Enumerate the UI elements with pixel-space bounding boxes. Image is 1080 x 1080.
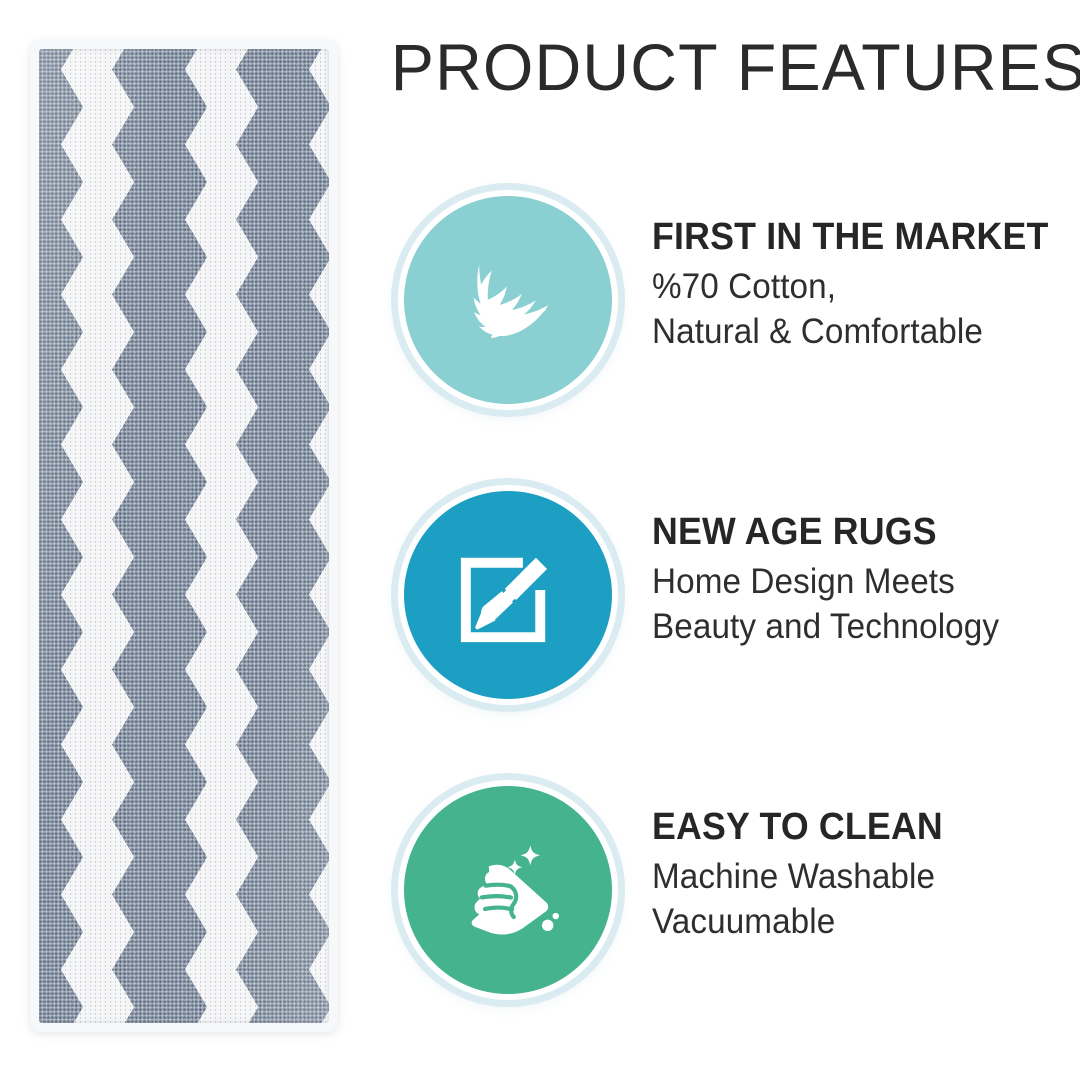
feature-line-1: Machine Washable [652, 854, 1059, 900]
chevron-runner-rug [30, 40, 338, 1032]
feature-icon-badge [404, 491, 612, 699]
rug-pattern-field [38, 48, 330, 1024]
page-title: PRODUCT FEATURES [391, 34, 1055, 100]
feature-line-1: %70 Cotton, [652, 264, 1059, 310]
feature-heading: EASY TO CLEAN [652, 808, 1054, 848]
feather-icon [446, 238, 570, 362]
hand-wiping-cloth-sparkle-icon [446, 828, 570, 952]
feature-line-2: Beauty and Technology [652, 604, 1059, 650]
feature-line-2: Vacuumable [652, 899, 1059, 945]
feature-item-new-age-rugs: NEW AGE RUGS Home Design Meets Beauty an… [404, 491, 1080, 703]
features-panel: PRODUCT FEATURES FIRST IN THE MARKET %70… [384, 0, 1080, 1080]
feature-line-1: Home Design Meets [652, 559, 1059, 605]
feature-text-block: NEW AGE RUGS Home Design Meets Beauty an… [612, 491, 1080, 650]
feature-text-block: FIRST IN THE MARKET %70 Cotton, Natural … [612, 196, 1080, 355]
feature-icon-badge [404, 786, 612, 994]
pen-and-brush-design-icon [446, 533, 570, 657]
feature-text-block: EASY TO CLEAN Machine Washable Vacuumabl… [612, 786, 1080, 945]
feature-item-easy-to-clean: EASY TO CLEAN Machine Washable Vacuumabl… [404, 786, 1080, 998]
feature-item-first-in-the-market: FIRST IN THE MARKET %70 Cotton, Natural … [404, 196, 1080, 408]
product-photo [30, 40, 338, 1032]
feature-line-2: Natural & Comfortable [652, 309, 1059, 355]
product-features-infographic: PRODUCT FEATURES FIRST IN THE MARKET %70… [0, 0, 1080, 1080]
feature-heading: NEW AGE RUGS [652, 513, 1054, 553]
feature-heading: FIRST IN THE MARKET [652, 218, 1054, 258]
feature-icon-badge [404, 196, 612, 404]
